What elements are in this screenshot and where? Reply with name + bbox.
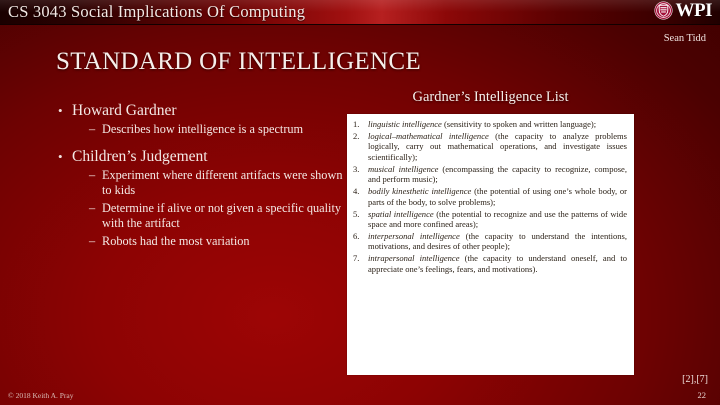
course-title: CS 3043 Social Implications Of Computing xyxy=(8,2,305,22)
page-title: STANDARD OF INTELLIGENCE xyxy=(56,48,421,76)
bullet-list: • Howard Gardner – Describes how intelli… xyxy=(58,101,343,258)
wpi-logo: WPI xyxy=(654,1,713,20)
dash-icon: – xyxy=(89,168,102,199)
list-item: spatial intelligence (the potential to r… xyxy=(351,209,627,230)
dash-icon: – xyxy=(89,122,102,138)
list-item: linguistic intelligence (sensitivity to … xyxy=(351,119,627,130)
list-item-term: spatial intelligence xyxy=(368,209,434,219)
bullet-level2: – Describes how intelligence is a spectr… xyxy=(58,122,343,138)
wpi-wordmark: WPI xyxy=(676,1,713,20)
list-item-term: bodily kinesthetic intelligence xyxy=(368,186,471,196)
slide-canvas: CS 3043 Social Implications Of Computing… xyxy=(0,0,720,405)
intelligence-list-panel: linguistic intelligence (sensitivity to … xyxy=(347,114,634,375)
list-item-term: musical intelligence xyxy=(368,164,438,174)
list-item-term: logical–mathematical intelligence xyxy=(368,131,489,141)
bullet-group: • Howard Gardner – Describes how intelli… xyxy=(58,101,343,138)
intelligence-list: linguistic intelligence (sensitivity to … xyxy=(351,119,627,274)
list-item: musical intelligence (encompassing the c… xyxy=(351,164,627,185)
bullet-level2-label: Determine if alive or not given a specif… xyxy=(102,201,343,232)
bullet-level2: – Robots had the most variation xyxy=(58,234,343,250)
list-item: bodily kinesthetic intelligence (the pot… xyxy=(351,186,627,207)
list-item-term: interpersonal intelligence xyxy=(368,231,460,241)
bullet-level2-label: Describes how intelligence is a spectrum xyxy=(102,122,343,138)
author-name: Sean Tidd xyxy=(664,33,706,44)
bullet-dot-icon: • xyxy=(58,147,72,166)
list-item: logical–mathematical intelligence (the c… xyxy=(351,131,627,163)
list-item-term: linguistic intelligence xyxy=(368,119,442,129)
panel-title: Gardner’s Intelligence List xyxy=(347,89,634,106)
dash-icon: – xyxy=(89,234,102,250)
page-number: 22 xyxy=(698,390,707,400)
bullet-level1-label: Howard Gardner xyxy=(72,101,177,120)
bullet-level1-label: Children’s Judgement xyxy=(72,147,208,166)
bullet-group: • Children’s Judgement – Experiment wher… xyxy=(58,147,343,250)
bullet-level2-label: Robots had the most variation xyxy=(102,234,343,250)
dash-icon: – xyxy=(89,201,102,232)
list-item: interpersonal intelligence (the capacity… xyxy=(351,231,627,252)
bullet-dot-icon: • xyxy=(58,101,72,120)
bullet-level2: – Experiment where different artifacts w… xyxy=(58,168,343,199)
bullet-level2: – Determine if alive or not given a spec… xyxy=(58,201,343,232)
copyright-notice: © 2018 Keith A. Pray xyxy=(8,391,74,400)
list-item-text: (sensitivity to spoken and written langu… xyxy=(442,119,596,129)
list-item-term: intrapersonal intelligence xyxy=(368,253,460,263)
wpi-seal-icon xyxy=(654,1,673,20)
list-item: intrapersonal intelligence (the capacity… xyxy=(351,253,627,274)
bullet-level1: • Children’s Judgement xyxy=(58,147,343,166)
bullet-level1: • Howard Gardner xyxy=(58,101,343,120)
bullet-level2-label: Experiment where different artifacts wer… xyxy=(102,168,343,199)
references-citation: [2],[7] xyxy=(682,374,708,385)
